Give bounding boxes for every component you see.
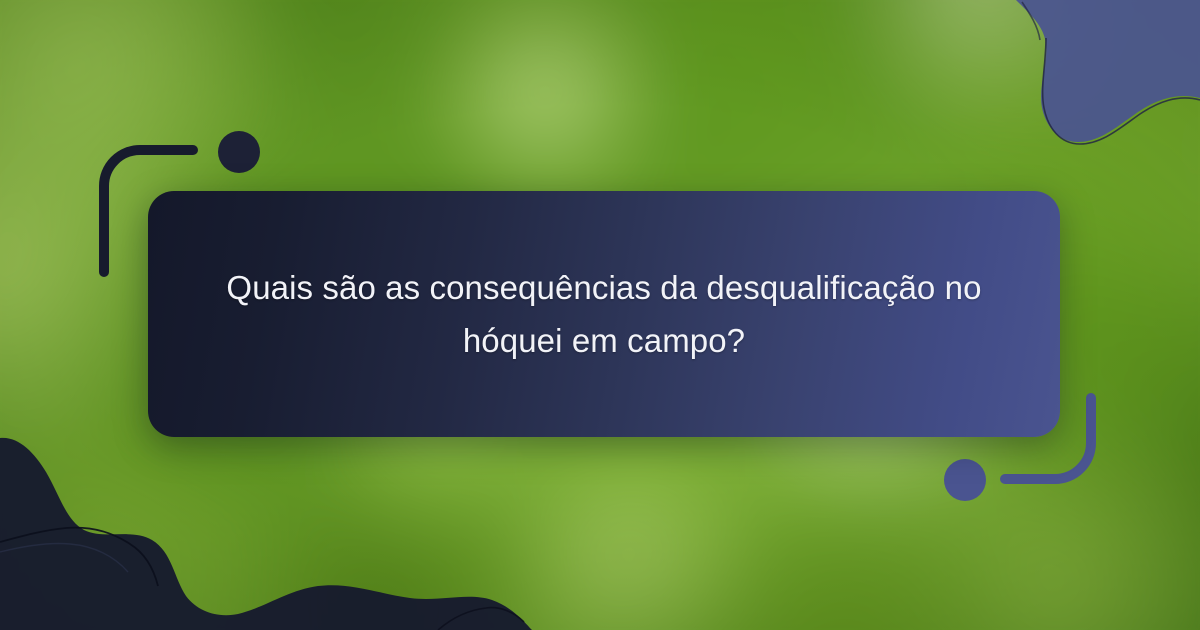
question-text: Quais são as consequências da desqualifi… bbox=[148, 261, 1060, 368]
question-card: Quais são as consequências da desqualifi… bbox=[148, 191, 1060, 437]
question-card-banner: Quais são as consequências da desqualifi… bbox=[0, 0, 1200, 630]
